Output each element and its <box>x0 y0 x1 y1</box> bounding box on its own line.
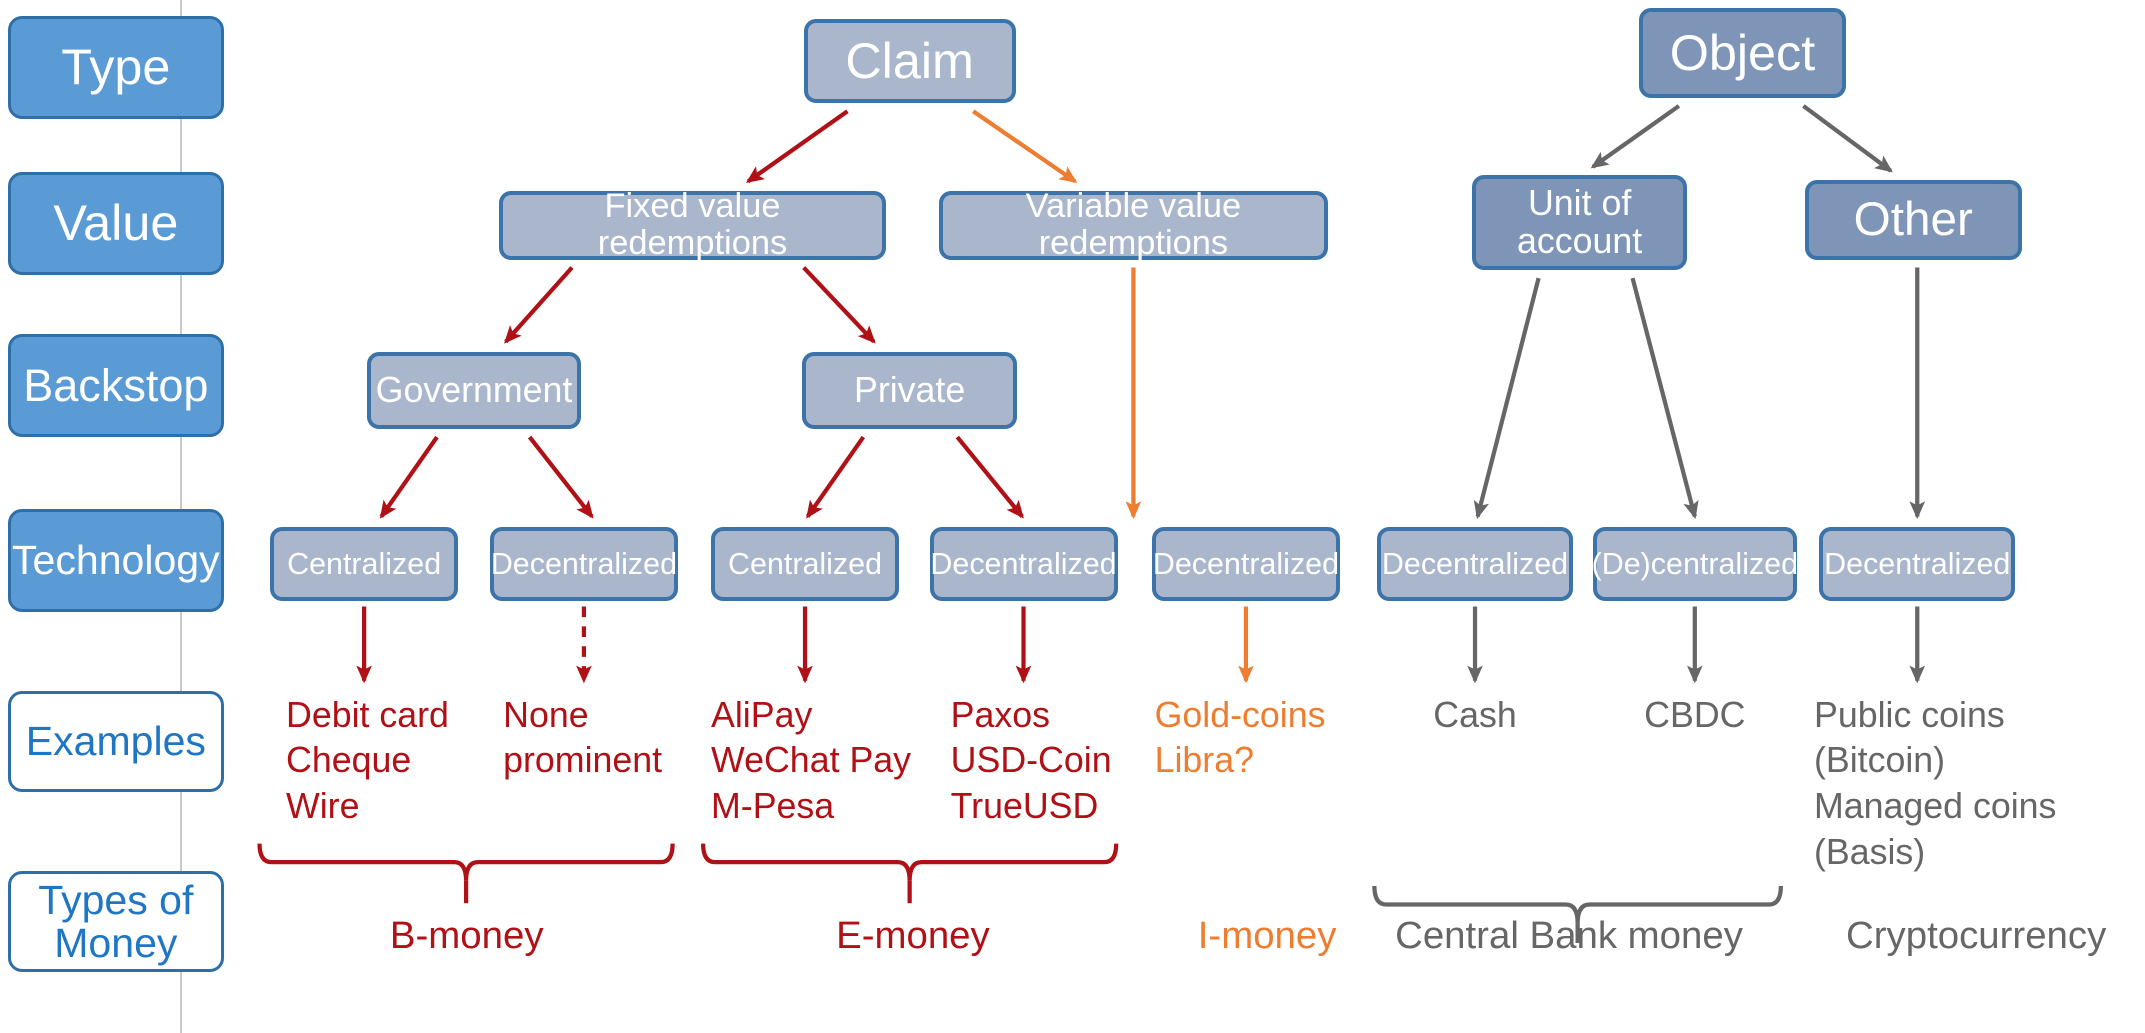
category-i-money: I-money <box>1155 914 1380 958</box>
node-claim[interactable]: Claim <box>804 19 1016 104</box>
node-t3[interactable]: Centralized <box>711 527 899 601</box>
ex-i: Gold-coins Libra? <box>1155 693 1393 785</box>
connector-object-to-other <box>1803 106 1890 171</box>
connector-object-to-unitacct <box>1593 106 1679 167</box>
brace-e-money <box>703 844 1116 904</box>
connector-fixed-to-priv <box>804 268 874 342</box>
row-label-value: Value <box>8 172 224 275</box>
ex-b-decentral: None prominent <box>503 693 741 785</box>
node-t5[interactable]: Decentralized <box>1152 527 1340 601</box>
ex-e-central: AliPay WeChat Pay M-Pesa <box>711 693 963 830</box>
connector-priv-to-t3 <box>808 437 864 516</box>
category-cbm: Central Bank money <box>1370 914 1767 958</box>
node-unitacct[interactable]: Unit of account <box>1472 175 1687 270</box>
node-priv[interactable]: Private <box>802 352 1017 429</box>
connector-claim-to-variable <box>973 111 1075 181</box>
row-label-type: Type <box>8 16 224 119</box>
node-t6[interactable]: Decentralized <box>1377 527 1573 601</box>
connector-priv-to-t4 <box>957 437 1022 516</box>
connector-unitacct-to-t7 <box>1633 278 1695 516</box>
ex-cbdc: CBDC <box>1593 693 1797 739</box>
node-t2[interactable]: Decentralized <box>490 527 678 601</box>
node-t4[interactable]: Decentralized <box>930 527 1118 601</box>
diagram-canvas: TypeValueBackstopTechnologyExamplesTypes… <box>0 0 2145 1033</box>
brace-b-money <box>260 844 673 904</box>
connector-layer <box>0 0 2145 1033</box>
node-other[interactable]: Other <box>1805 180 2022 259</box>
node-govt[interactable]: Government <box>367 352 582 429</box>
node-fixed[interactable]: Fixed value redemptions <box>499 191 886 260</box>
row-label-technology: Technology <box>8 509 224 612</box>
ex-b-central: Debit card Cheque Wire <box>286 693 524 830</box>
connector-govt-to-t1 <box>381 437 437 516</box>
connector-claim-to-fixed <box>748 111 847 181</box>
node-t7[interactable]: (De)centralized <box>1593 527 1797 601</box>
node-t1[interactable]: Centralized <box>270 527 458 601</box>
ex-crypto: Public coins (Bitcoin) Managed coins (Ba… <box>1814 693 2099 876</box>
row-label-types-of-money: Types of Money <box>8 871 224 972</box>
row-label-backstop: Backstop <box>8 334 224 437</box>
node-variable[interactable]: Variable value redemptions <box>939 191 1328 260</box>
category-b-money: B-money <box>331 914 602 958</box>
connector-fixed-to-govt <box>506 268 572 342</box>
category-cryptocur: Cryptocurrency <box>1814 914 2138 958</box>
row-label-examples: Examples <box>8 691 224 792</box>
node-t8[interactable]: Decentralized <box>1819 527 2015 601</box>
connector-unitacct-to-t6 <box>1478 278 1539 516</box>
connector-govt-to-t2 <box>530 437 592 516</box>
category-e-money: E-money <box>777 914 1048 958</box>
ex-cash: Cash <box>1377 693 1573 739</box>
node-object[interactable]: Object <box>1639 8 1846 98</box>
